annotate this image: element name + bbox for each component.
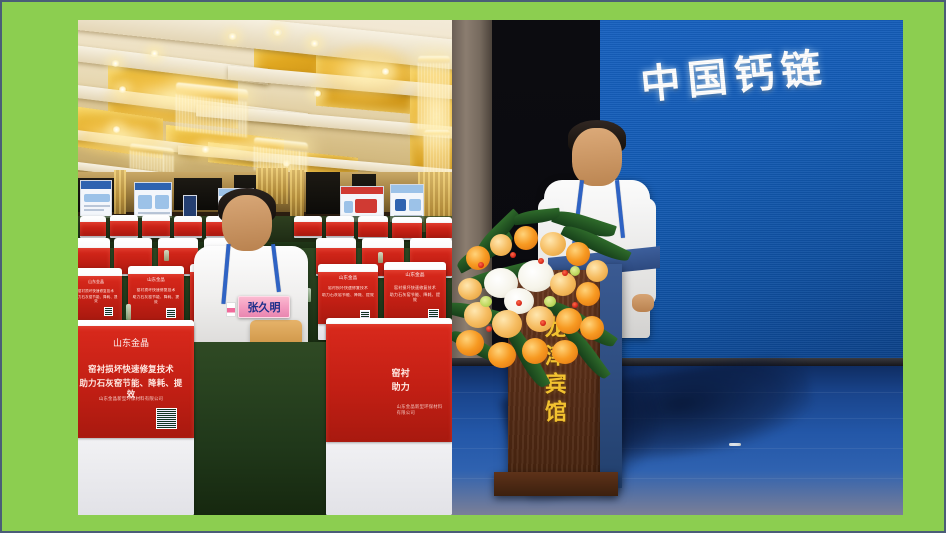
poster-graphic xyxy=(138,195,152,209)
poster-text-line xyxy=(84,209,104,211)
sash-text-2: 助力石灰窑节能、降耗、提效 xyxy=(322,293,375,298)
ceiling-spotlight xyxy=(201,146,210,153)
banner-logo: 山东金晶 xyxy=(113,339,149,348)
orange-chrysanthemum xyxy=(522,338,548,364)
main-red-banner: 山东金晶 窑衬损坏快速修复技术 助力石灰窑节能、降耗、提效 山东金晶新型环保材料… xyxy=(78,326,194,438)
poster-graphic xyxy=(355,199,377,213)
orange-flower xyxy=(514,226,538,250)
green-filler-bud xyxy=(544,296,556,307)
chair-sash xyxy=(294,222,322,236)
gold-column xyxy=(290,170,304,216)
crystal-chandelier xyxy=(424,130,450,136)
red-berry xyxy=(510,252,516,258)
second-banner-line-2: 助力 xyxy=(392,382,445,393)
sash-logo: 山东金晶 xyxy=(147,278,165,282)
dark-wall-panel xyxy=(174,178,222,210)
orange-flower xyxy=(576,282,600,306)
ceiling-spotlight xyxy=(381,68,390,75)
poster-graphic xyxy=(409,199,421,211)
orange-chrysanthemum xyxy=(488,342,516,368)
sash-logo: 山东金晶 xyxy=(405,274,424,279)
photo-collage: 山东金晶 窑衬损坏快速修复技术 助力石灰窑节能、降耗、提效 山东金晶 窑衬损坏快… xyxy=(78,20,903,515)
poster-graphic xyxy=(155,195,169,209)
ceiling-cove-glow xyxy=(312,42,422,104)
attendee-badge xyxy=(226,302,236,317)
banquet-hall-photo: 山东金晶 窑衬损坏快速修复技术 助力石灰窑节能、降耗、提效 山东金晶 窑衬损坏快… xyxy=(78,20,452,515)
orange-chrysanthemum xyxy=(552,340,578,364)
slide-canvas: 山东金晶 窑衬损坏快速修复技术 助力石灰窑节能、降耗、提效 山东金晶 窑衬损坏快… xyxy=(0,0,946,533)
floor-reflection-mark xyxy=(729,443,741,446)
ceiling-spotlight xyxy=(112,126,121,133)
ceiling-spotlight xyxy=(313,90,322,97)
poster-graphic xyxy=(344,201,353,213)
chair-sash xyxy=(80,222,106,236)
ceiling-spotlight xyxy=(310,40,319,47)
orange-flower xyxy=(556,308,582,334)
amber-rose xyxy=(526,306,554,332)
orange-flower xyxy=(566,242,590,266)
sash-text-1: 窑衬损坏快速修复技术 xyxy=(78,289,119,293)
chandelier-crystals xyxy=(424,135,450,175)
name-plate: 张久明 xyxy=(238,296,290,318)
poster-text-line xyxy=(138,212,170,214)
red-berry xyxy=(562,270,568,276)
orange-chrysanthemum xyxy=(456,330,484,356)
sash-logo: 山东金晶 xyxy=(339,276,357,281)
green-filler-bud xyxy=(480,296,492,307)
speaker-face xyxy=(572,128,622,186)
banner-company: 山东金晶新型环保材料有限公司 xyxy=(78,396,186,402)
speaker-hand xyxy=(632,294,654,312)
exhibition-poster xyxy=(134,182,172,218)
amber-rose xyxy=(492,310,522,338)
water-bottle xyxy=(126,304,131,320)
second-red-banner: 窑衬 助力 山东金晶新型环保材料有限公司 xyxy=(326,324,452,442)
ceiling-spotlight xyxy=(118,86,127,93)
chair-sash xyxy=(326,222,354,236)
ceiling-spotlight xyxy=(228,33,237,40)
banner-line-1: 窑衬损坏快速修复技术 xyxy=(78,364,186,375)
crystal-chandelier xyxy=(418,56,450,64)
chair-sash xyxy=(426,223,452,238)
red-berry xyxy=(540,320,546,326)
water-bottle xyxy=(378,252,383,263)
chair-sash xyxy=(110,221,138,236)
chair-sash: 山东金晶 窑衬损坏快速修复技术 助力石灰窑节能、降耗、提效 xyxy=(78,276,122,320)
dark-wall-panel xyxy=(306,172,340,214)
second-banner-line-1: 窑衬 xyxy=(392,368,445,379)
ceiling-spotlight xyxy=(273,29,282,36)
sash-text-1: 窑衬损坏快速修复技术 xyxy=(388,285,443,290)
red-berry xyxy=(486,326,492,332)
chair-sash: 山东金晶 窑衬损坏快速修复技术 助力石灰窑节能、降耗、提效 xyxy=(128,274,184,322)
sash-text-1: 窑衬损坏快速修复技术 xyxy=(131,288,180,293)
chandelier-crystals xyxy=(176,94,248,138)
chair-sash xyxy=(392,223,422,238)
ceiling-spotlight xyxy=(150,50,159,57)
chair-sash xyxy=(142,221,170,236)
poster-graphic xyxy=(84,194,110,202)
stage-speaker-photo: 中国钙链 龙津宾馆 xyxy=(452,20,903,515)
qr-code xyxy=(104,307,113,316)
orange-flower xyxy=(580,316,604,340)
sash-logo: 山东金晶 xyxy=(88,280,104,284)
green-filler-bud xyxy=(570,266,580,276)
sash-text-2: 助力石灰窑节能、降耗、提效 xyxy=(78,295,119,304)
led-screen-title: 中国钙链 xyxy=(638,35,831,111)
gold-column xyxy=(114,170,126,214)
seated-man-face xyxy=(222,195,272,251)
poster-graphic xyxy=(395,199,406,211)
amber-rose xyxy=(490,234,512,256)
sash-text-2: 助力石灰窑节能、降耗、提效 xyxy=(388,292,443,302)
red-berry xyxy=(478,262,484,268)
sash-text-1: 窑衬损坏快速修复技术 xyxy=(322,286,375,291)
poster-header xyxy=(81,181,111,189)
poster-header xyxy=(135,183,171,190)
amber-rose xyxy=(458,278,482,300)
poster-header xyxy=(341,187,383,194)
qr-code xyxy=(166,308,176,318)
chair-sash xyxy=(358,222,388,237)
qr-code xyxy=(156,408,177,429)
poster-header xyxy=(391,185,423,193)
second-banner-company: 山东金晶新型环保材料有限公司 xyxy=(397,404,445,415)
red-berry xyxy=(516,300,522,306)
ceiling-spotlight xyxy=(111,60,120,67)
sash-text-2: 助力石灰窑节能、降耗、提效 xyxy=(131,295,180,304)
white-lily xyxy=(518,260,554,292)
amber-rose xyxy=(586,260,608,282)
amber-rose xyxy=(540,232,566,256)
red-berry xyxy=(572,302,578,308)
chair-sash: 山东金晶 窑衬损坏快速修复技术 助力石灰窑节能、降耗、提效 xyxy=(318,272,378,324)
podium-inscription: 龙津宾馆 xyxy=(542,316,566,428)
chair-sash xyxy=(174,222,202,236)
podium-base xyxy=(494,472,618,496)
red-berry xyxy=(538,258,544,264)
poster-text-line xyxy=(84,205,110,207)
water-bottle xyxy=(164,250,169,261)
chandelier-crystals xyxy=(418,63,450,129)
exhibition-poster xyxy=(80,180,112,218)
chair-sash: 山东金晶 窑衬损坏快速修复技术 助力石灰窑节能、降耗、提效 xyxy=(384,270,446,324)
